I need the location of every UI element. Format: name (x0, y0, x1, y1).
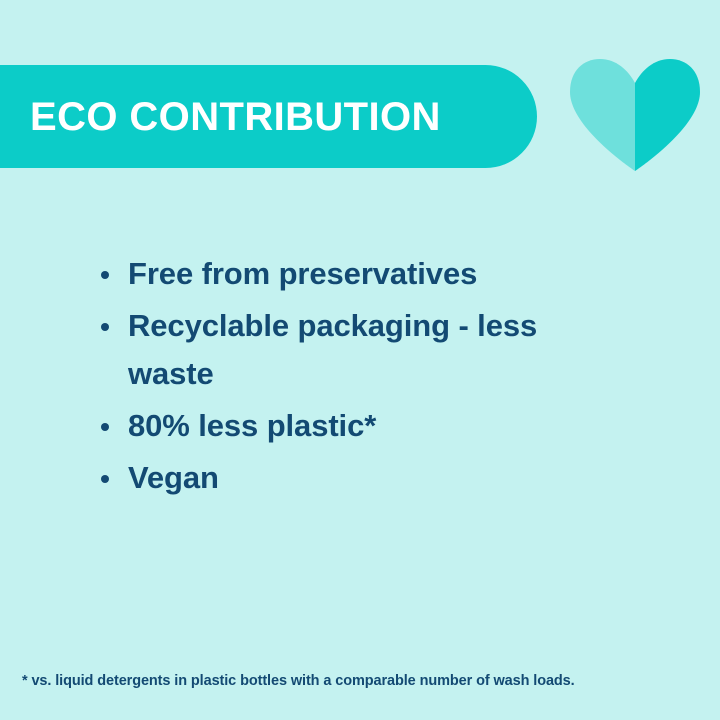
bullet-icon (101, 271, 109, 279)
list-item: Recyclable packaging - less waste (96, 302, 656, 398)
eco-contribution-card: ECO CONTRIBUTION Free from preservatives… (0, 0, 720, 720)
benefits-list: Free from preservatives Recyclable packa… (96, 250, 656, 506)
list-item-label: Vegan (128, 454, 598, 502)
page-title: ECO CONTRIBUTION (0, 97, 441, 137)
bullet-icon (101, 423, 109, 431)
list-item-label: Recyclable packaging - less waste (128, 302, 598, 398)
list-item-label: 80% less plastic* (128, 402, 598, 450)
bullet-icon (101, 475, 109, 483)
footnote-text: * vs. liquid detergents in plastic bottl… (22, 672, 712, 690)
header-area: ECO CONTRIBUTION (0, 0, 720, 200)
list-item-label: Free from preservatives (128, 250, 598, 298)
list-item: Free from preservatives (96, 250, 656, 298)
list-item: Vegan (96, 454, 656, 502)
header-banner: ECO CONTRIBUTION (0, 65, 537, 168)
heart-icon (566, 56, 704, 171)
bullet-icon (101, 323, 109, 331)
list-item: 80% less plastic* (96, 402, 656, 450)
